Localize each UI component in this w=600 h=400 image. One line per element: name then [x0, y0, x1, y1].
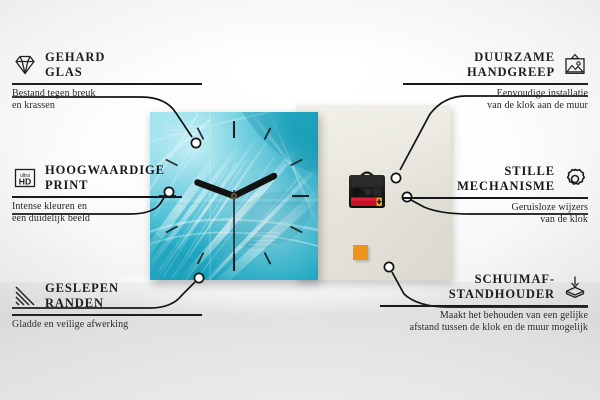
infographic-stage: GEHARD GLAS Bestand tegen breuk en krass… — [0, 0, 600, 400]
feature-header: STILLE MECHANISME — [403, 164, 588, 194]
ultra-hd-badge-icon: ultra HD — [12, 165, 38, 191]
feature-title-line2: HANDGREEP — [467, 65, 555, 80]
feature-gehard-glas: GEHARD GLAS Bestand tegen breuk en krass… — [12, 50, 202, 113]
feature-title-line1: HOOGWAARDIGE — [45, 163, 165, 178]
feature-header: SCHUIMAF- STANDHOUDER — [380, 272, 588, 302]
feature-title: GESLEPEN RANDEN — [45, 281, 119, 311]
feature-title: STILLE MECHANISME — [457, 164, 555, 194]
feature-subtitle: Gladde en veilige afwerking — [12, 319, 202, 332]
feature-header: GEHARD GLAS — [12, 50, 202, 80]
feature-title-line1: GEHARD — [45, 50, 105, 65]
feature-subtitle: Bestand tegen breuk en krassen — [12, 88, 202, 113]
feature-schuimaf-standhouder: SCHUIMAF- STANDHOUDER Maakt het behouden… — [380, 272, 588, 335]
feature-title: DUURZAME HANDGREEP — [467, 50, 555, 80]
feature-title-line1: SCHUIMAF- — [449, 272, 555, 287]
diamond-icon — [12, 52, 38, 78]
feature-subtitle-line1: Eenvoudige installatie — [403, 88, 588, 101]
feature-subtitle-line1: Intense kleuren en — [12, 201, 182, 214]
feature-divider — [403, 83, 588, 85]
feature-duurzame-handgreep: DUURZAME HANDGREEP Eenvoudige installati… — [403, 50, 588, 113]
feature-divider — [12, 314, 202, 316]
feature-title-line1: GESLEPEN — [45, 281, 119, 296]
foam-spacer-pad — [353, 245, 368, 260]
feature-header: ultra HD HOOGWAARDIGE PRINT — [12, 163, 182, 193]
feature-title: HOOGWAARDIGE PRINT — [45, 163, 165, 193]
feature-header: GESLEPEN RANDEN — [12, 281, 202, 311]
feature-title: GEHARD GLAS — [45, 50, 105, 80]
feature-subtitle-line2: en krassen — [12, 100, 202, 113]
feature-title: SCHUIMAF- STANDHOUDER — [449, 272, 555, 302]
feature-subtitle-line2: van de klok aan de muur — [403, 100, 588, 113]
picture-frame-hanger-icon — [562, 52, 588, 78]
quartz-movement — [346, 170, 388, 212]
feature-subtitle: Geruisloze wijzers van de klok — [403, 202, 588, 227]
feature-title-line2: MECHANISME — [457, 179, 555, 194]
feature-subtitle-line1: Gladde en veilige afwerking — [12, 319, 202, 332]
feature-stille-mechanisme: STILLE MECHANISME Geruisloze wijzers van… — [403, 164, 588, 227]
foam-spacer-arrow-icon — [562, 274, 588, 300]
feature-title-line2: STANDHOUDER — [449, 287, 555, 302]
feature-divider — [12, 196, 182, 198]
feature-title-line2: RANDEN — [45, 296, 119, 311]
feature-geslepen-randen: GESLEPEN RANDEN Gladde en veilige afwerk… — [12, 281, 202, 331]
svg-text:HD: HD — [19, 176, 31, 186]
feature-header: DUURZAME HANDGREEP — [403, 50, 588, 80]
feature-title-line1: STILLE — [457, 164, 555, 179]
feature-title-line2: PRINT — [45, 178, 165, 193]
feature-subtitle-line2: een duidelijk beeld — [12, 213, 182, 226]
feature-subtitle-line1: Maakt het behouden van een gelijke — [380, 310, 588, 323]
feature-subtitle-line1: Bestand tegen breuk — [12, 88, 202, 101]
feature-divider — [380, 305, 588, 307]
polished-edges-icon — [12, 283, 38, 309]
feature-divider — [403, 197, 588, 199]
feature-title-line2: GLAS — [45, 65, 105, 80]
feature-subtitle: Intense kleuren en een duidelijk beeld — [12, 201, 182, 226]
feature-subtitle: Maakt het behouden van een gelijke afsta… — [380, 310, 588, 335]
feature-title-line1: DUURZAME — [467, 50, 555, 65]
feature-hoogwaardige-print: ultra HD HOOGWAARDIGE PRINT Intense kleu… — [12, 163, 182, 226]
feature-subtitle-line1: Geruisloze wijzers — [403, 202, 588, 215]
feature-subtitle: Eenvoudige installatie van de klok aan d… — [403, 88, 588, 113]
gear-icon — [562, 166, 588, 192]
feature-divider — [12, 83, 202, 85]
feature-subtitle-line2: afstand tussen de klok en de muur mogeli… — [380, 322, 588, 335]
feature-subtitle-line2: van de klok — [403, 214, 588, 227]
